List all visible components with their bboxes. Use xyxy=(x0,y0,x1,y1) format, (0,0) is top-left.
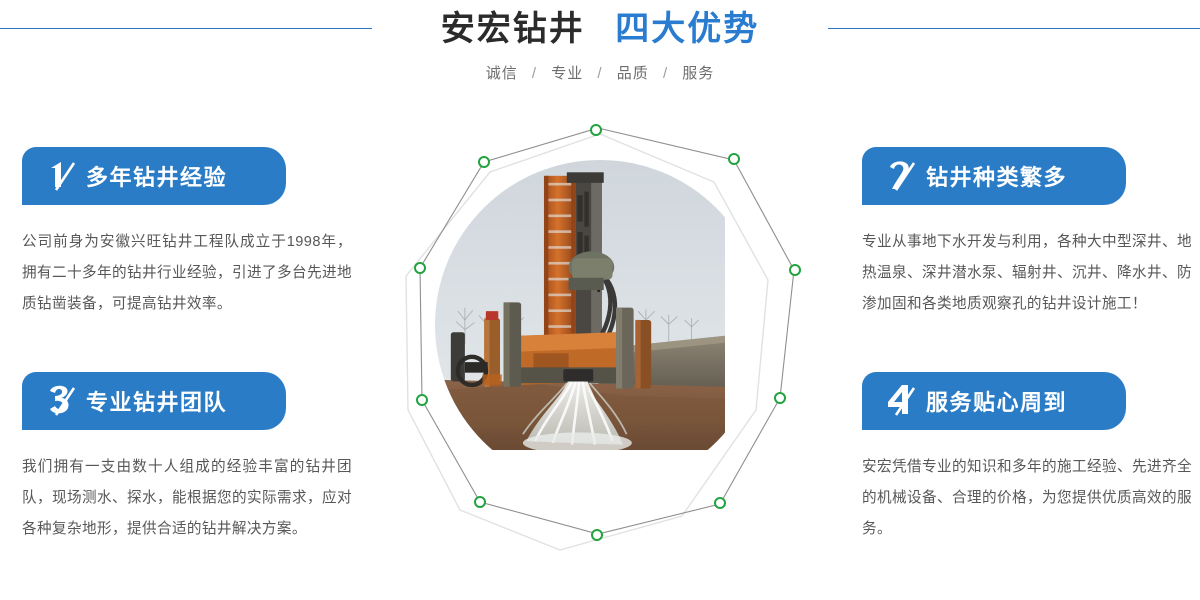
number-4-icon xyxy=(882,381,924,421)
feature-card-4-badge: 服务贴心周到 xyxy=(862,372,1126,430)
subtitle-item-2: 专业 xyxy=(551,65,583,82)
feature-card-4-body: 安宏凭借专业的知识和多年的施工经验、先进齐全的机械设备、合理的价格，为您提供优质… xyxy=(862,452,1192,545)
vertex-node-1 xyxy=(591,125,601,135)
subtitle: 诚信 / 专业 / 品质 / 服务 xyxy=(0,62,1200,83)
polygon-vertex-nodes xyxy=(390,110,810,580)
subtitle-item-1: 诚信 xyxy=(486,65,518,82)
feature-card-2-body: 专业从事地下水开发与利用，各种大中型深井、地热温泉、深井潜水泵、辐射井、沉井、降… xyxy=(862,227,1192,320)
feature-card-2-badge: 钻井种类繁多 xyxy=(862,147,1126,205)
subtitle-separator-2: / xyxy=(597,65,602,82)
feature-card-3[interactable]: 专业钻井团队 我们拥有一支由数十人组成的经验丰富的钻井团队，现场测水、探水，能根… xyxy=(22,372,358,545)
page-title: 安宏钻井 四大优势 xyxy=(0,6,1200,52)
feature-card-4[interactable]: 服务贴心周到 安宏凭借专业的知识和多年的施工经验、先进齐全的机械设备、合理的价格… xyxy=(862,372,1198,545)
feature-card-2-title: 钻井种类繁多 xyxy=(926,160,1067,192)
number-2-icon xyxy=(882,156,924,196)
vertex-node-2 xyxy=(729,154,739,164)
vertex-node-7 xyxy=(475,497,485,507)
feature-card-3-badge: 专业钻井团队 xyxy=(22,372,286,430)
vertex-node-9 xyxy=(415,263,425,273)
advantages-banner: 安宏钻井 四大优势 诚信 / 专业 / 品质 / 服务 多年钻井经验 公司前身为… xyxy=(0,0,1200,600)
feature-card-2[interactable]: 钻井种类繁多 专业从事地下水开发与利用，各种大中型深井、地热温泉、深井潜水泵、辐… xyxy=(862,147,1198,320)
feature-card-1[interactable]: 多年钻井经验 公司前身为安徽兴旺钻井工程队成立于1998年，拥有二十多年的钻井行… xyxy=(22,147,358,320)
vertex-node-10 xyxy=(479,157,489,167)
feature-card-1-title: 多年钻井经验 xyxy=(86,160,227,192)
number-1-icon xyxy=(42,156,84,196)
number-3-icon xyxy=(42,381,84,421)
feature-card-1-badge: 多年钻井经验 xyxy=(22,147,286,205)
feature-card-3-title: 专业钻井团队 xyxy=(86,385,227,417)
subtitle-separator-1: / xyxy=(532,65,537,82)
title-main: 安宏钻井 xyxy=(441,10,585,48)
feature-card-4-title: 服务贴心周到 xyxy=(926,385,1067,417)
vertex-node-3 xyxy=(790,265,800,275)
vertex-node-8 xyxy=(417,395,427,405)
feature-card-3-body: 我们拥有一支由数十人组成的经验丰富的钻井团队，现场测水、探水，能根据您的实际需求… xyxy=(22,452,352,545)
banner-header: 安宏钻井 四大优势 诚信 / 专业 / 品质 / 服务 xyxy=(0,0,1200,110)
vertex-node-4 xyxy=(775,393,785,403)
subtitle-separator-3: / xyxy=(663,65,668,82)
center-graphic xyxy=(390,110,810,580)
feature-card-1-body: 公司前身为安徽兴旺钻井工程队成立于1998年，拥有二十多年的钻井行业经验，引进了… xyxy=(22,227,352,320)
title-accent: 四大优势 xyxy=(615,10,759,48)
vertex-node-6 xyxy=(592,530,602,540)
vertex-node-5 xyxy=(715,498,725,508)
subtitle-item-3: 品质 xyxy=(617,65,649,82)
subtitle-item-4: 服务 xyxy=(682,65,714,82)
